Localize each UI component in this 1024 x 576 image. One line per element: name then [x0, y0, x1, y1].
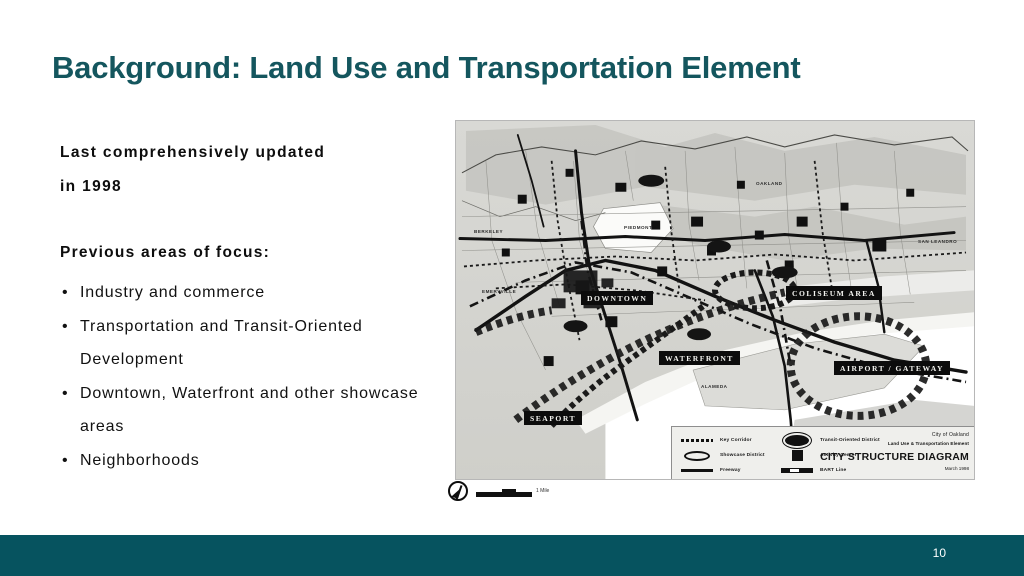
lead-line-2: in 1998 — [60, 170, 430, 204]
scale-label: 1 Mile — [536, 488, 549, 494]
legend-item-freeway: Freeway — [680, 463, 765, 478]
list-item: • Industry and commerce — [60, 276, 430, 310]
place-label-oakland: OAKLAND — [756, 181, 782, 186]
compass-rose-icon — [448, 481, 468, 501]
focus-areas-list: • Industry and commerce • Transportation… — [60, 276, 430, 477]
bullet-marker-icon: • — [62, 444, 68, 478]
place-label-piedmont: PIEDMONT — [624, 225, 652, 230]
lead-line-1: Last comprehensively updated — [60, 136, 430, 170]
place-label-berkeley: BERKELEY — [474, 229, 503, 234]
list-item: • Neighborhoods — [60, 444, 430, 478]
bullet-marker-icon: • — [62, 377, 68, 411]
legend-column-left: Key Corridor Showcase District Freeway — [680, 433, 765, 478]
list-item: • Transportation and Transit-Oriented De… — [60, 310, 430, 377]
body-text-column: Last comprehensively updated in 1998 Pre… — [60, 136, 430, 477]
list-item-label: Downtown, Waterfront and other showcase … — [80, 385, 419, 436]
page-title: Background: Land Use and Transportation … — [52, 50, 912, 86]
section-heading: Previous areas of focus: — [60, 242, 430, 264]
list-item: • Downtown, Waterfront and other showcas… — [60, 377, 430, 444]
map-label-waterfront: WATERFRONT — [659, 351, 740, 365]
footer-bar: 10 — [0, 535, 1024, 576]
city-structure-diagram-image: DOWNTOWN WATERFRONT SEAPORT COLISEUM ARE… — [455, 120, 975, 480]
place-label-san-leandro: SAN LEANDRO — [918, 239, 957, 244]
map-legend: Key Corridor Showcase District Freeway T… — [671, 426, 975, 480]
list-item-label: Industry and commerce — [80, 284, 265, 301]
legend-date: March 1998 — [820, 466, 969, 471]
legend-title-block: City of Oakland Land Use & Transportatio… — [820, 432, 969, 471]
place-label-alameda: ALAMEDA — [701, 384, 727, 389]
legend-item-showcase-district: Showcase District — [680, 448, 765, 463]
legend-label: Showcase District — [720, 453, 765, 458]
legend-diagram-title: CITY STRUCTURE DIAGRAM — [820, 451, 969, 463]
showcase-district-symbol-icon — [680, 450, 714, 461]
transit-oriented-district-symbol-icon — [780, 435, 814, 446]
map-label-downtown: DOWNTOWN — [581, 291, 653, 305]
list-item-label: Transportation and Transit-Oriented Deve… — [80, 318, 363, 369]
bart-line-symbol-icon — [780, 465, 814, 476]
page-number: 10 — [933, 546, 946, 560]
scale-bar-graphic — [476, 485, 532, 497]
map-scale-bar: 1 Mile — [448, 478, 568, 504]
activity-center-symbol-icon — [780, 450, 814, 461]
map-label-seaport: SEAPORT — [524, 411, 582, 425]
map-label-coliseum-area: COLISEUM AREA — [786, 286, 882, 300]
legend-item-key-corridor: Key Corridor — [680, 433, 765, 448]
bullet-marker-icon: • — [62, 276, 68, 310]
bullet-marker-icon: • — [62, 310, 68, 344]
place-label-emeryville: EMERYVILLE — [482, 289, 516, 294]
freeway-symbol-icon — [680, 465, 714, 476]
legend-city-name: City of Oakland — [820, 432, 969, 438]
key-corridor-symbol-icon — [680, 435, 714, 446]
map-label-airport-gateway: AIRPORT / GATEWAY — [834, 361, 950, 375]
list-item-label: Neighborhoods — [80, 452, 200, 469]
legend-label: Key Corridor — [720, 438, 752, 443]
legend-element-name: Land Use & Transportation Element — [820, 441, 969, 446]
legend-label: Freeway — [720, 468, 741, 473]
